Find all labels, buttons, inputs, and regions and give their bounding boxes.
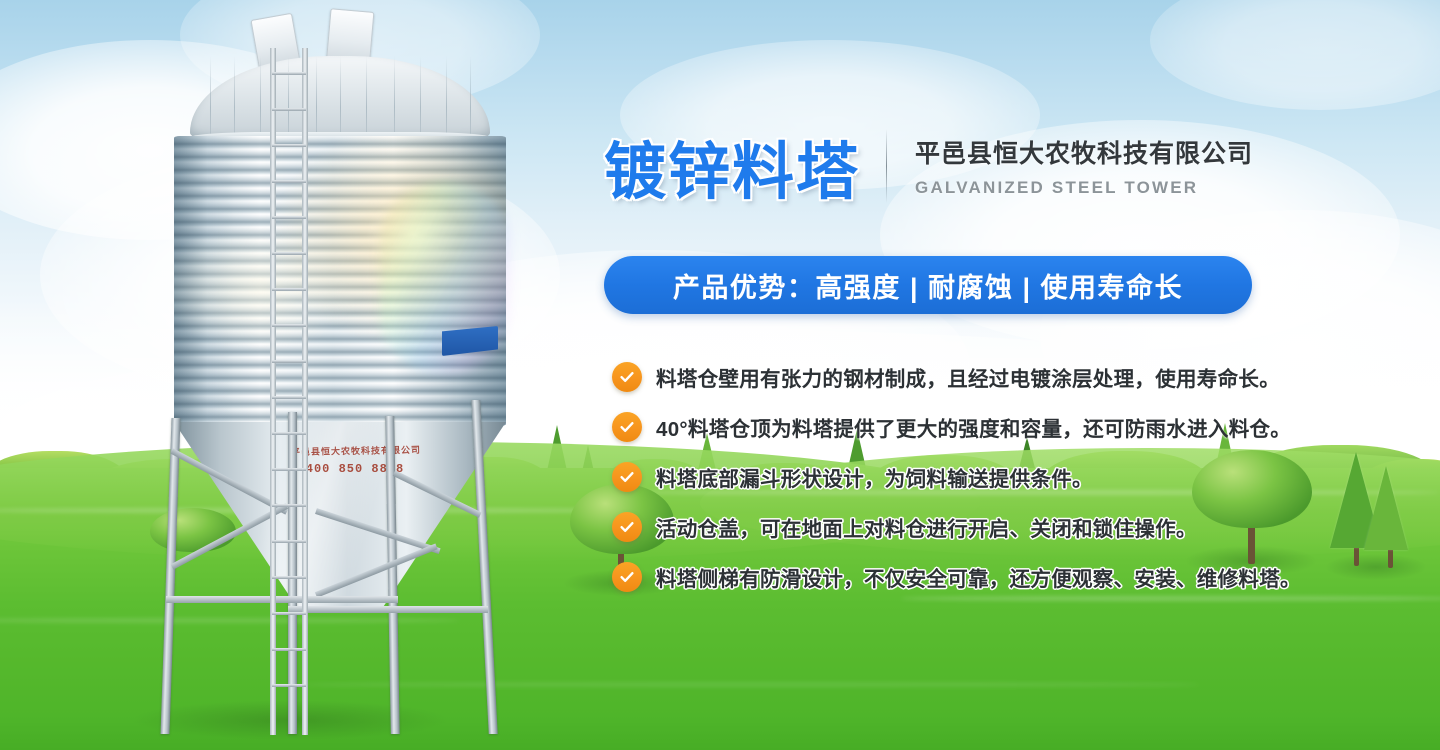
feature-item: 料塔侧梯有防滑设计，不仅安全可靠，还方便观察、安装、维修料塔。 [612,552,1302,602]
hero-banner: 平邑县恒大农牧科技有限公司 400 850 8818 [0,0,1440,750]
feature-text: 料塔底部漏斗形状设计，为饲料输送提供条件。 [656,462,1093,492]
feature-text: 40°料塔仓顶为料塔提供了更大的强度和容量，还可防雨水进入料仓。 [656,412,1291,442]
feature-item: 活动仓盖，可在地面上对料仓进行开启、关闭和锁住操作。 [612,502,1302,552]
lawn-tree [1330,462,1420,580]
feature-item: 40°料塔仓顶为料塔提供了更大的强度和容量，还可防雨水进入料仓。 [612,402,1302,452]
silo-roof [190,56,490,142]
title-right-block: 平邑县恒大农牧科技有限公司 GALVANIZED STEEL TOWER [915,134,1253,198]
silo-corrugated-body [174,136,506,426]
content-panel: 镀锌料塔 平邑县恒大农牧科技有限公司 GALVANIZED STEEL TOWE… [604,0,1304,750]
product-image-silo: 平邑县恒大农牧科技有限公司 400 850 8818 [150,8,530,743]
feature-item: 料塔仓壁用有张力的钢材制成，且经过电镀涂层处理，使用寿命长。 [612,352,1302,402]
feature-text: 料塔侧梯有防滑设计，不仅安全可靠，还方便观察、安装、维修料塔。 [656,562,1301,592]
silo-crossbar [288,606,488,613]
silo-ladder [270,48,308,735]
check-circle-icon [612,412,642,442]
advantage-pill: 产品优势：高强度 | 耐腐蚀 | 使用寿命长 [604,256,1252,314]
feature-item: 料塔底部漏斗形状设计，为饲料输送提供条件。 [612,452,1302,502]
page-title: 镀锌料塔 [604,121,860,211]
feature-text: 料塔仓壁用有张力的钢材制成，且经过电镀涂层处理，使用寿命长。 [656,362,1280,392]
check-circle-icon [612,512,642,542]
check-circle-icon [612,362,642,392]
title-divider [886,129,887,203]
feature-list: 料塔仓壁用有张力的钢材制成，且经过电镀涂层处理，使用寿命长。 40°料塔仓顶为料… [612,352,1302,602]
check-circle-icon [612,562,642,592]
subtitle-english: GALVANIZED STEEL TOWER [915,178,1253,198]
advantage-pill-label: 产品优势：高强度 | 耐腐蚀 | 使用寿命长 [673,266,1183,305]
company-name: 平邑县恒大农牧科技有限公司 [915,134,1253,170]
feature-text: 活动仓盖，可在地面上对料仓进行开启、关闭和锁住操作。 [656,512,1197,542]
title-row: 镀锌料塔 平邑县恒大农牧科技有限公司 GALVANIZED STEEL TOWE… [604,118,1253,214]
check-circle-icon [612,462,642,492]
